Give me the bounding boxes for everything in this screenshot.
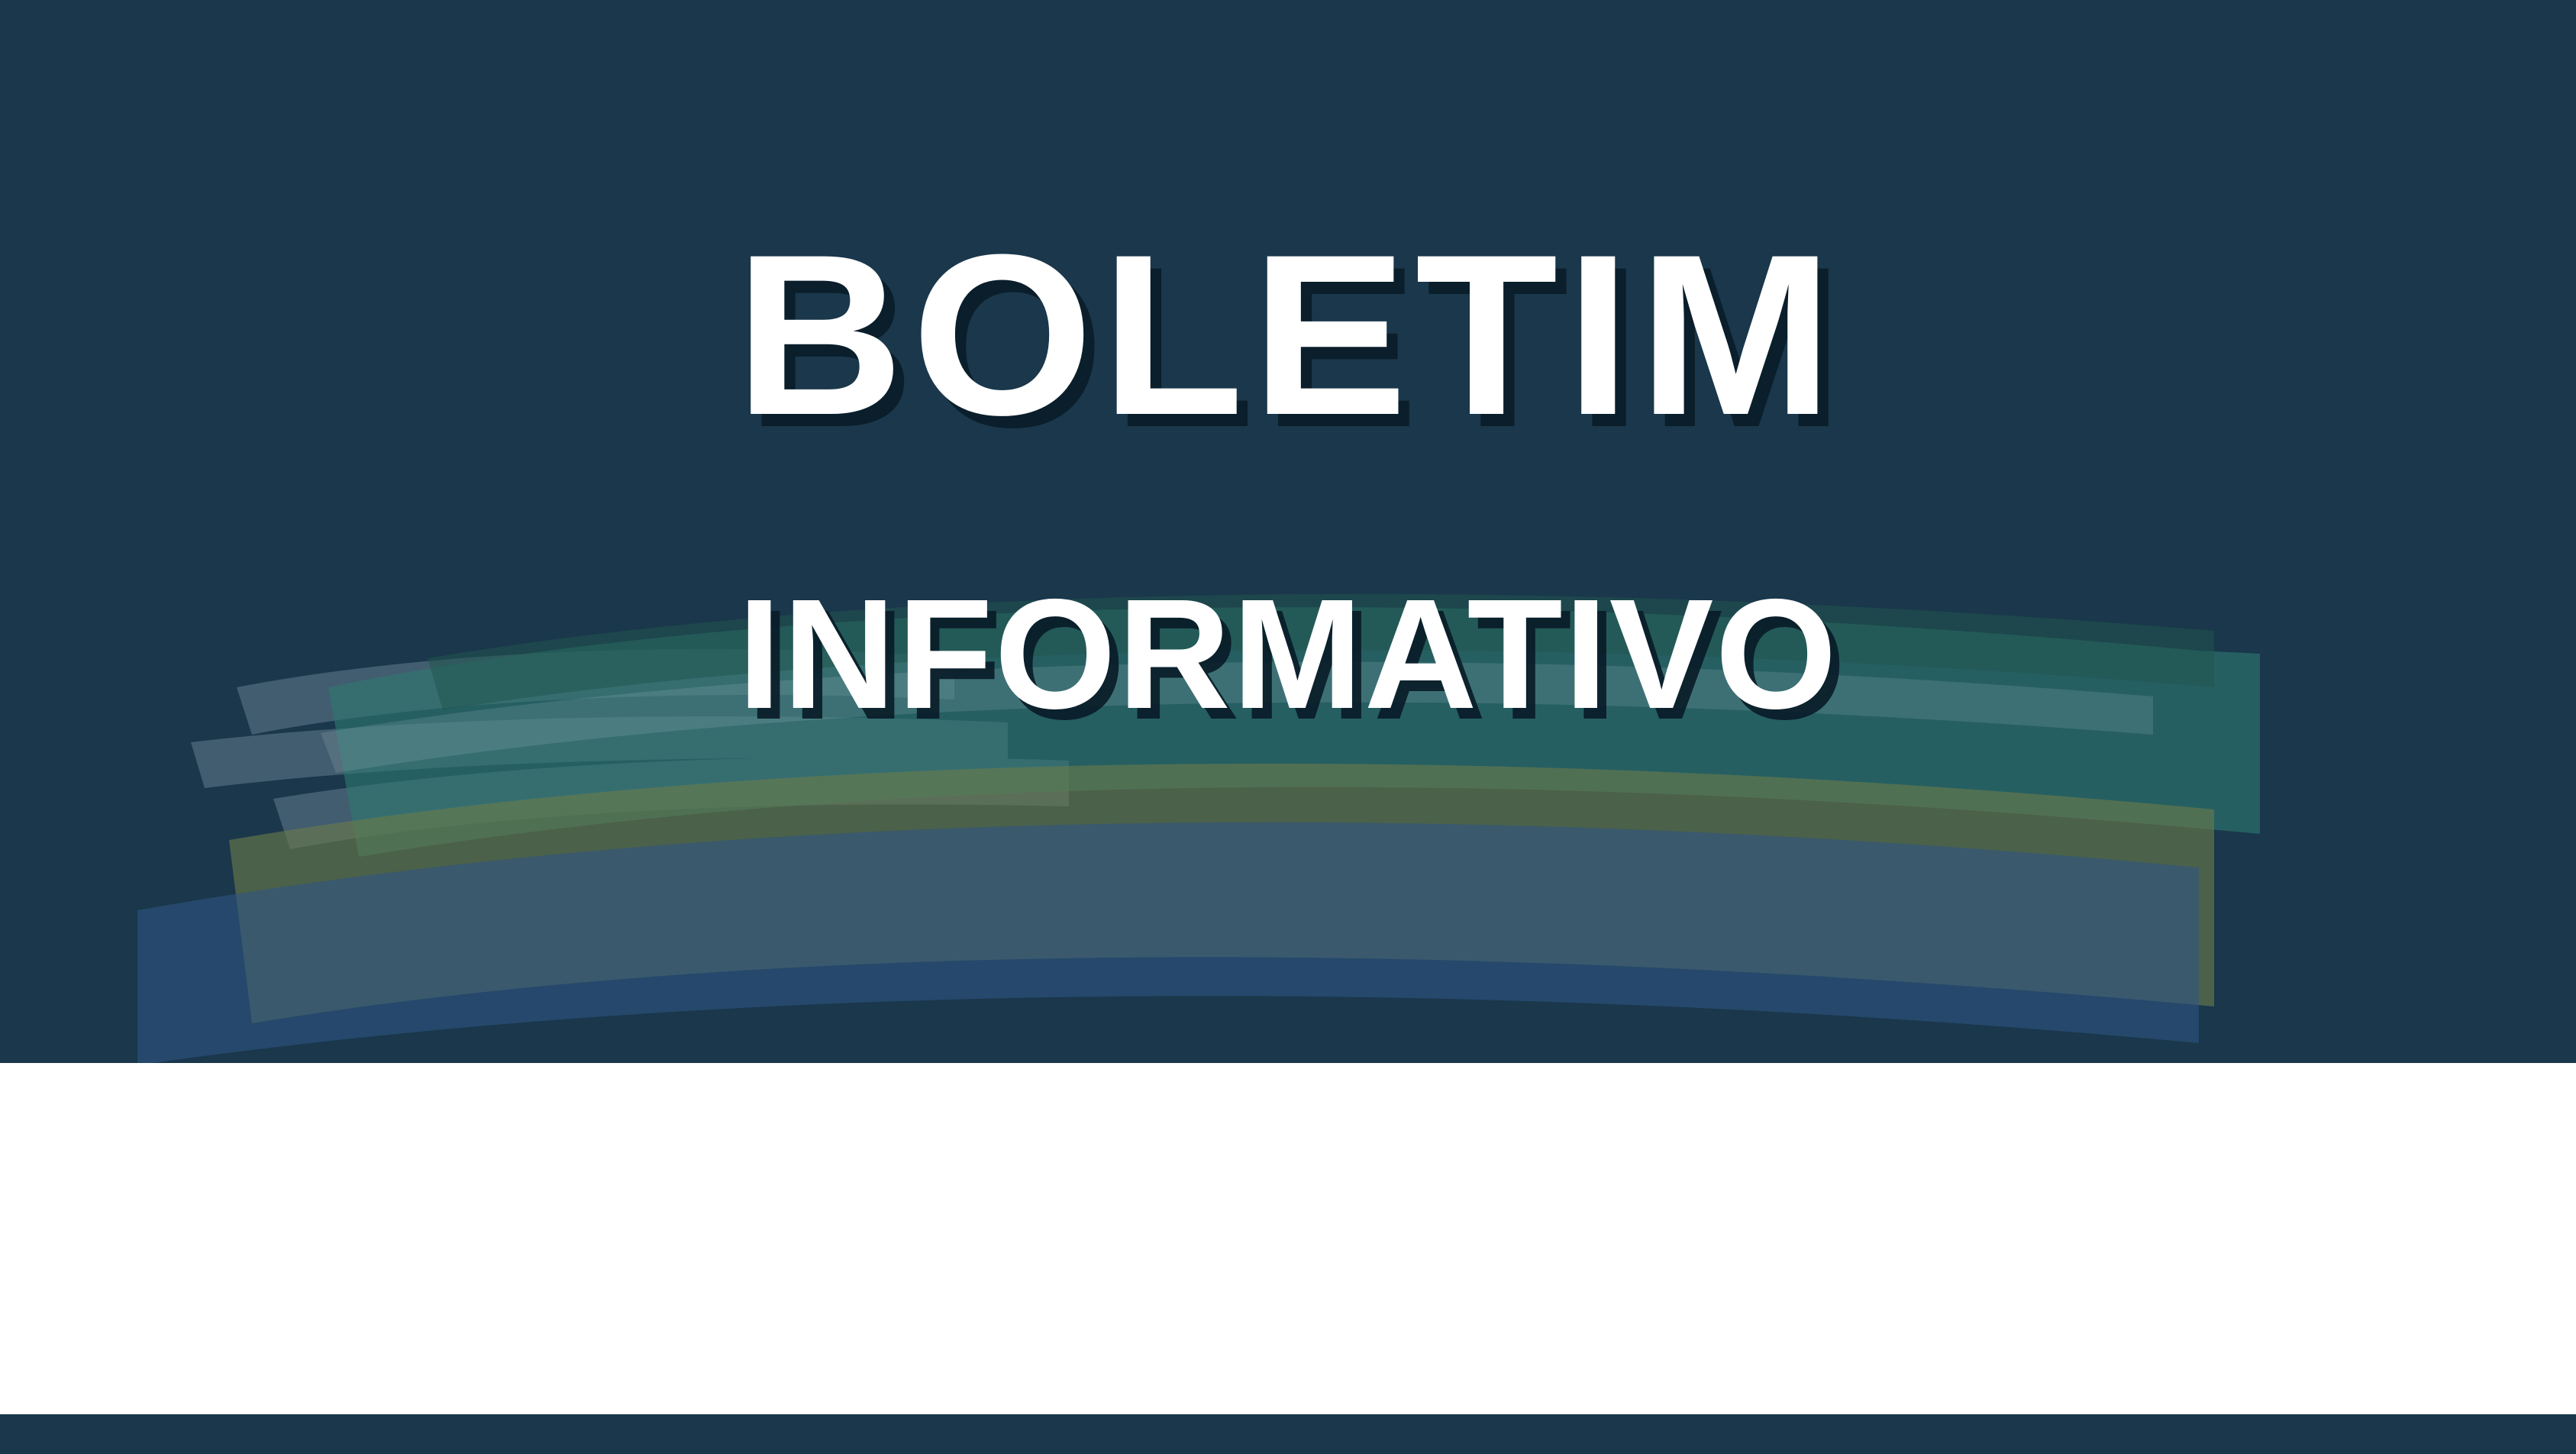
hero-banner: BOLETIM INFORMATIVO [0,0,2576,1063]
footer-bottom-strip [0,1414,2576,1454]
poster-title-sub: INFORMATIVO [0,580,2576,729]
poster-canvas: BOLETIM INFORMATIVO /camaraformosa [0,0,2576,1454]
title-informativo: INFORMATIVO [738,580,1838,729]
title-boletim: BOLETIM [735,229,1841,440]
footer-band: /camaraformosa /camarafsa You Tube [0,1063,2576,1414]
decorative-waves [0,0,2576,1063]
poster-title-main: BOLETIM [0,229,2576,440]
